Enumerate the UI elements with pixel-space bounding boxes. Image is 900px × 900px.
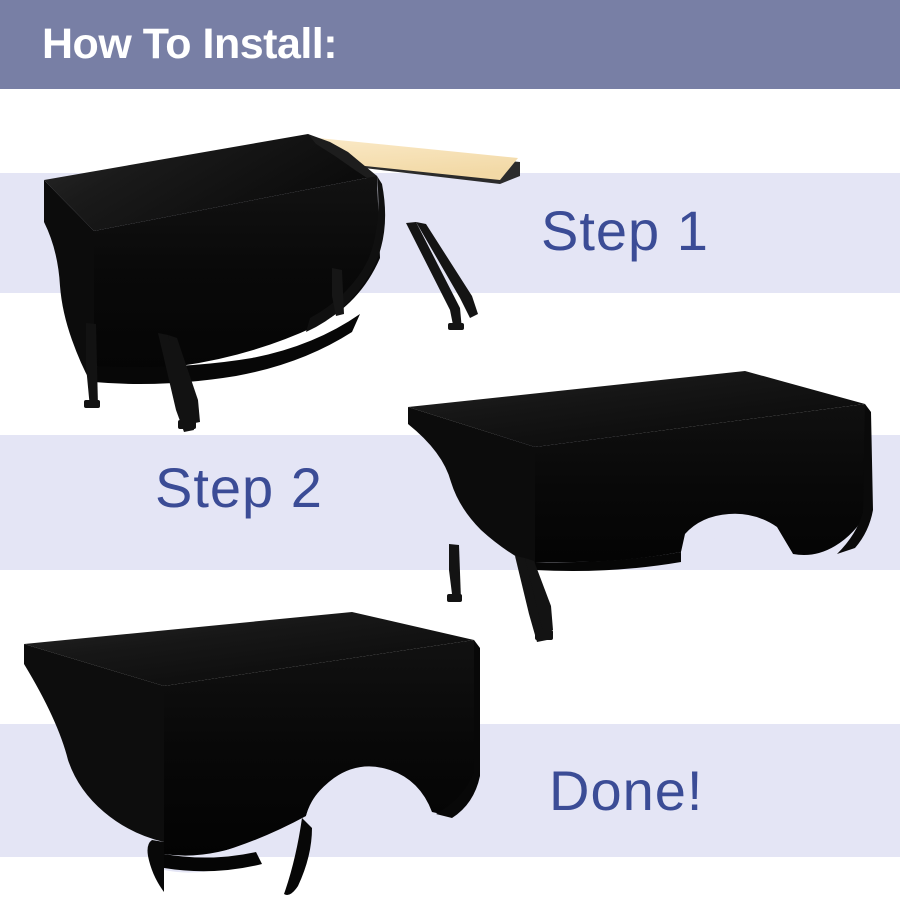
- cover-hem-left-corner: [148, 840, 165, 892]
- step-2-label: Step 2: [155, 460, 323, 516]
- header-banner: How To Install:: [0, 0, 900, 89]
- done-label: Done!: [549, 763, 703, 819]
- page-title: How To Install:: [42, 23, 337, 66]
- done-illustration: [12, 602, 482, 897]
- how-to-install-infographic: How To Install:: [0, 0, 900, 900]
- step-1-label: Step 1: [541, 203, 709, 259]
- table-leg: [406, 222, 478, 330]
